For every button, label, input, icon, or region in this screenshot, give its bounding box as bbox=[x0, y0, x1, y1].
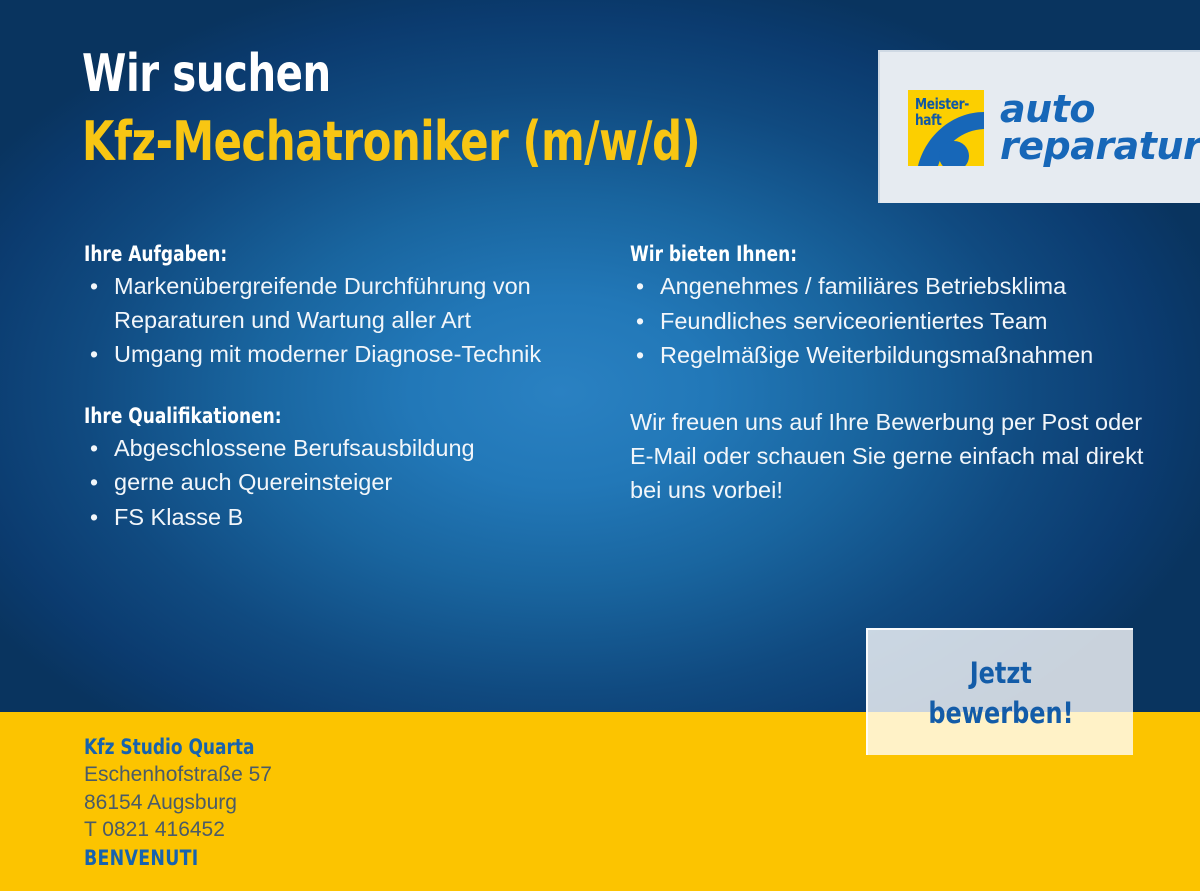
left-content-column: Ihre Aufgaben: Markenübergreifende Durch… bbox=[84, 242, 604, 535]
closing-paragraph: Wir freuen uns auf Ihre Bewerbung per Po… bbox=[630, 405, 1170, 507]
list-item: Umgang mit moderner Diagnose-Technik bbox=[84, 338, 604, 372]
tasks-list: Markenübergreifende Durchführung von Rep… bbox=[84, 270, 604, 372]
company-phone: T 0821 416452 bbox=[84, 816, 604, 844]
offer-list: Angenehmes / familiäres Betriebsklima Fe… bbox=[630, 270, 1170, 373]
list-item: Regelmäßige Weiterbildungsmaßnahmen bbox=[630, 339, 1170, 373]
headline-line-1: Wir suchen bbox=[82, 44, 761, 104]
right-content-column: Wir bieten Ihnen: Angenehmes / familiäre… bbox=[630, 242, 1170, 507]
qualifications-heading: Ihre Qualifikationen: bbox=[84, 404, 552, 428]
brand-word-auto: auto bbox=[1000, 91, 1200, 127]
section-spacer bbox=[84, 373, 604, 404]
meisterhaft-mark-line-2: haft bbox=[915, 112, 969, 128]
list-item: Feundliches serviceorientiertes Team bbox=[630, 305, 1170, 339]
list-item: Markenübergreifende Durchführung von Rep… bbox=[84, 270, 604, 337]
list-item: gerne auch Quereinsteiger bbox=[84, 466, 604, 500]
job-ad-poster: Wir suchen Kfz-Mechatroniker (m/w/d) Mei… bbox=[0, 0, 1200, 891]
list-item: Angenehmes / familiäres Betriebsklima bbox=[630, 270, 1170, 304]
company-street: Eschenhofstraße 57 bbox=[84, 761, 604, 789]
headline-line-2: Kfz-Mechatroniker (m/w/d) bbox=[82, 112, 761, 172]
apply-now-button[interactable]: Jetzt bewerben! bbox=[866, 628, 1133, 755]
cta-line-1: Jetzt bbox=[969, 653, 1031, 693]
footer-contact-block: Kfz Studio Quarta Eschenhofstraße 57 861… bbox=[84, 733, 604, 873]
offer-heading: Wir bieten Ihnen: bbox=[630, 242, 1116, 266]
headline-block: Wir suchen Kfz-Mechatroniker (m/w/d) bbox=[82, 44, 872, 172]
company-city: 86154 Augsburg bbox=[84, 789, 604, 817]
company-tagline: BENVENUTI bbox=[84, 844, 562, 873]
qualifications-list: Abgeschlossene Berufsausbildung gerne au… bbox=[84, 432, 604, 535]
tasks-heading: Ihre Aufgaben: bbox=[84, 242, 552, 266]
meisterhaft-logo-icon: Meister- haft bbox=[908, 90, 984, 166]
cta-line-2: bewerben! bbox=[928, 693, 1073, 733]
list-item: FS Klasse B bbox=[84, 501, 604, 535]
list-item: Abgeschlossene Berufsausbildung bbox=[84, 432, 604, 466]
meisterhaft-mark-line-1: Meister- bbox=[915, 96, 969, 112]
brand-logo-panel: Meister- haft auto reparatur bbox=[878, 50, 1200, 203]
meisterhaft-mark-text: Meister- haft bbox=[915, 96, 969, 128]
brand-wordmark: auto reparatur bbox=[1000, 91, 1200, 164]
company-name: Kfz Studio Quarta bbox=[84, 733, 552, 761]
brand-word-reparatur: reparatur bbox=[1000, 128, 1200, 164]
